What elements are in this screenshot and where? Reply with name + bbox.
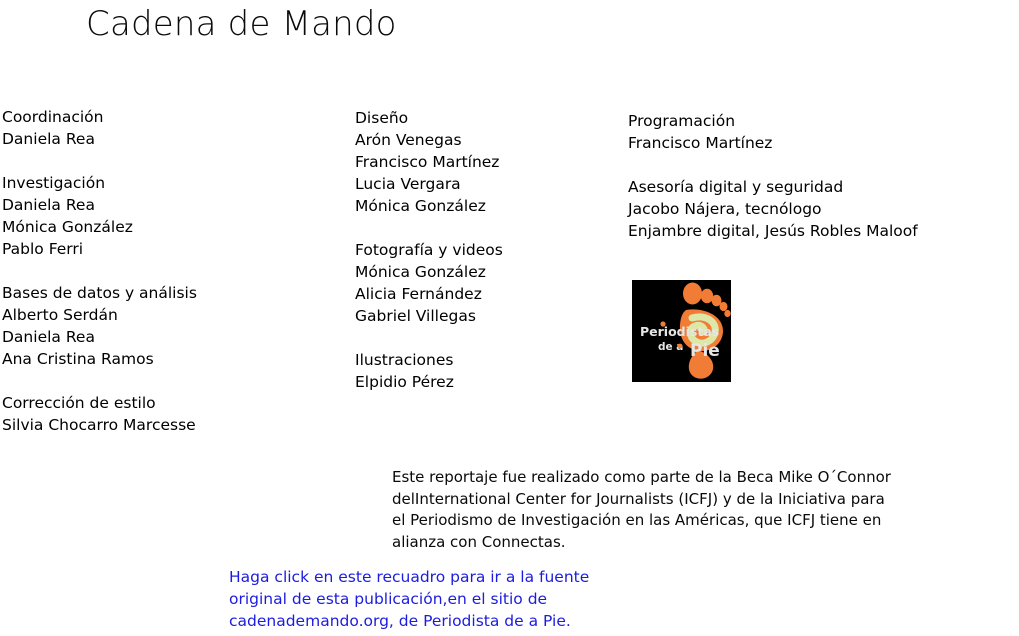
credit-person: Jacobo Nájera, tecnólogo: [628, 198, 918, 220]
logo-text-line3: Pie: [690, 341, 720, 361]
credits-column-middle: Diseño Arón Venegas Francisco Martínez L…: [355, 107, 503, 393]
funding-note: Este reportaje fue realizado como parte …: [392, 467, 992, 553]
page-title: Cadena de Mando: [86, 4, 397, 44]
source-link-line: original de esta publicación,en el sitio…: [229, 588, 589, 610]
credit-person: Francisco Martínez: [355, 151, 503, 173]
source-link-line: Haga click en este recuadro para ir a la…: [229, 566, 589, 588]
source-link-line: cadenademando.org, de Periodista de a Pi…: [229, 610, 589, 632]
credit-role: Ilustraciones: [355, 349, 503, 371]
credit-group: Bases de datos y análisis Alberto Serdán…: [2, 282, 197, 370]
funding-note-line: Este reportaje fue realizado como parte …: [392, 467, 992, 489]
credit-person: Enjambre digital, Jesús Robles Maloof: [628, 220, 918, 242]
credit-group: Fotografía y videos Mónica González Alic…: [355, 239, 503, 327]
credit-role: Corrección de estilo: [2, 392, 197, 414]
credit-group: Ilustraciones Elpidio Pérez: [355, 349, 503, 393]
credit-person: Mónica González: [2, 216, 197, 238]
credit-person: Gabriel Villegas: [355, 305, 503, 327]
credit-role: Programación: [628, 110, 918, 132]
credits-column-right: Programación Francisco Martínez Asesoría…: [628, 110, 918, 242]
credit-person: Daniela Rea: [2, 128, 197, 150]
credit-person: Silvia Chocarro Marcesse: [2, 414, 197, 436]
credit-group: Programación Francisco Martínez: [628, 110, 918, 154]
funding-note-line: el Periodismo de Investigación en las Am…: [392, 510, 992, 532]
credit-person: Alicia Fernández: [355, 283, 503, 305]
credit-group: Investigación Daniela Rea Mónica Gonzále…: [2, 172, 197, 260]
credit-person: Arón Venegas: [355, 129, 503, 151]
footprint-icon: Periodistas de a Pie: [632, 280, 731, 382]
credit-role: Diseño: [355, 107, 503, 129]
credits-column-left: Coordinación Daniela Rea Investigación D…: [2, 106, 197, 436]
credit-role: Investigación: [2, 172, 197, 194]
credit-role: Fotografía y videos: [355, 239, 503, 261]
credit-group: Diseño Arón Venegas Francisco Martínez L…: [355, 107, 503, 217]
periodistas-de-a-pie-logo: Periodistas de a Pie: [632, 280, 731, 382]
credit-group: Coordinación Daniela Rea: [2, 106, 197, 150]
logo-text-line1: Periodistas: [640, 324, 719, 339]
credit-person: Daniela Rea: [2, 194, 197, 216]
credit-person: Alberto Serdán: [2, 304, 197, 326]
credit-person: Ana Cristina Ramos: [2, 348, 197, 370]
credit-role: Bases de datos y análisis: [2, 282, 197, 304]
funding-note-line: delInternational Center for Journalists …: [392, 489, 992, 511]
credit-person: Mónica González: [355, 195, 503, 217]
credit-group: Asesoría digital y seguridad Jacobo Náje…: [628, 176, 918, 242]
credit-person: Mónica González: [355, 261, 503, 283]
funding-note-line: alianza con Connectas.: [392, 532, 992, 554]
credit-person: Francisco Martínez: [628, 132, 918, 154]
credit-group: Corrección de estilo Silvia Chocarro Mar…: [2, 392, 197, 436]
credit-person: Pablo Ferri: [2, 238, 197, 260]
credit-person: Lucia Vergara: [355, 173, 503, 195]
credit-person: Elpidio Pérez: [355, 371, 503, 393]
credit-role: Coordinación: [2, 106, 197, 128]
source-link[interactable]: Haga click en este recuadro para ir a la…: [229, 566, 589, 632]
credit-role: Asesoría digital y seguridad: [628, 176, 918, 198]
credit-person: Daniela Rea: [2, 326, 197, 348]
